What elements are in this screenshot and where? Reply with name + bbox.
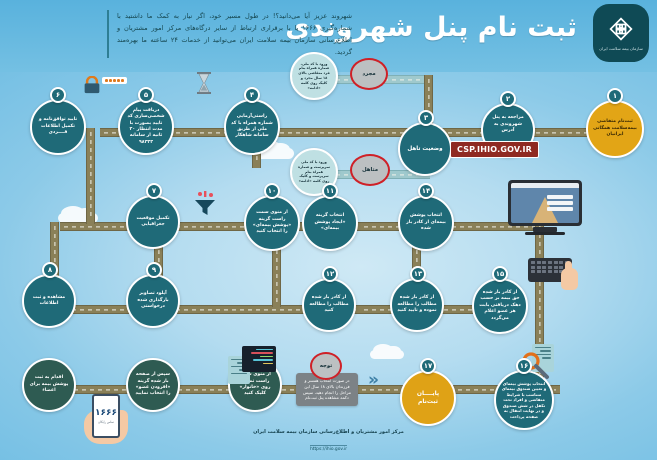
node-badge-3: ۳ bbox=[418, 110, 434, 126]
decision-single[interactable]: مجرد bbox=[350, 58, 388, 90]
node-5[interactable]: دریافت پیام‌ شخصی‌سازی کد تایید بصورت با… bbox=[118, 99, 174, 155]
note-badge: توجه bbox=[310, 352, 342, 380]
phone-screen: ۱۶۶۶ تماس رایگان bbox=[92, 394, 120, 438]
organization-logo: سازمان بیمه سلامت ایران bbox=[593, 4, 649, 62]
pointing-hand-graphic bbox=[561, 268, 578, 290]
monitor-body bbox=[508, 180, 582, 226]
padlock-password-icon bbox=[82, 76, 102, 98]
node-badge-14: ۱۴ bbox=[418, 183, 434, 199]
node-badge-2: ۲ bbox=[500, 91, 516, 107]
node-7[interactable]: تکمیل موقعیت جغرافیایی bbox=[126, 195, 180, 249]
keyboard-hand-icon bbox=[528, 258, 572, 282]
url-badge[interactable]: CSP.IHIO.GOV.IR bbox=[450, 141, 539, 158]
bottom-node-add-member[interactable]: سپس از صفحه باز شده گزینه «افزودن عضو» ر… bbox=[126, 358, 180, 412]
monitor-base bbox=[525, 232, 565, 235]
node-badge-4: ۴ bbox=[244, 87, 260, 103]
decision-married-label: متاهل bbox=[362, 167, 378, 173]
road-vert-6 bbox=[86, 128, 95, 224]
node-9[interactable]: آپلود تصاویر بارگذاری شده درخواستی bbox=[126, 274, 180, 328]
hourglass-icon bbox=[196, 72, 212, 98]
bottom-node-register-coverage[interactable]: اقدام به ثبت پوشش بیمه برای اعضاء bbox=[22, 358, 76, 412]
node-badge-6: ۶ bbox=[50, 87, 66, 103]
code-terminal-graphic bbox=[242, 346, 276, 372]
decision-married[interactable]: متاهل bbox=[350, 154, 390, 186]
node-6[interactable]: تایید توافق‌نامه و تکمیل اطلاعات فــــرد… bbox=[30, 99, 86, 155]
password-dots bbox=[102, 77, 127, 84]
node-8[interactable]: مشاهده و ثبت اطلاعات bbox=[22, 274, 76, 328]
logo-caption: سازمان بیمه سلامت ایران bbox=[599, 46, 643, 51]
node-badge-7: ۷ bbox=[146, 183, 162, 199]
call-center-number: ۱۶۶۶ bbox=[95, 408, 117, 418]
node-12[interactable]: از کادر باز شده مطالب را مطالعه کنید bbox=[302, 278, 356, 332]
node-15[interactable]: از کادر باز شده حق بیمه بر حسب دهک دریاف… bbox=[472, 278, 528, 334]
node-10[interactable]: از منوی سمت راست گزینه «پوشش بیمه‌ای» را… bbox=[244, 195, 300, 251]
node-1[interactable]: ثبت‌نام متقاضی بیمه‌سلامت همگانی ایرانیا… bbox=[586, 100, 644, 158]
node-badge-13: ۱۳ bbox=[410, 266, 426, 282]
header-subtitle: شهروند عزیز آیا می‌دانید؟! در طول مسیر خ… bbox=[107, 10, 352, 58]
flower-emblem-icon bbox=[608, 16, 634, 42]
call-center-label: تماس رایگان bbox=[98, 420, 114, 424]
phone-in-hand-icon: ۱۶۶۶ تماس رایگان bbox=[92, 394, 120, 438]
footer-url[interactable]: https://ihio.gov.ir bbox=[310, 445, 347, 453]
node-badge-1: ۱ bbox=[607, 88, 623, 104]
node-badge-12: ۱۲ bbox=[322, 266, 338, 282]
double-chevron-left-icon: « bbox=[368, 372, 379, 389]
cloud-decoration bbox=[370, 350, 404, 359]
branch-bubble-single: ورود با کد ملی، شماره همراه بنام فرد متق… bbox=[290, 52, 338, 100]
node-badge-10: ۱۰ bbox=[264, 183, 280, 199]
login-form-graphic bbox=[547, 195, 573, 211]
decision-single-label: مجرد bbox=[362, 71, 375, 77]
infographic-canvas: ثبت نام پنل شهروندی شهروند عزیز آیا می‌د… bbox=[0, 0, 657, 460]
road-row1 bbox=[100, 128, 640, 137]
desktop-monitor-icon bbox=[508, 180, 582, 235]
node-badge-9: ۹ bbox=[146, 262, 162, 278]
node-17-finish[interactable]: پایــــان ثبت‌نام bbox=[400, 370, 456, 426]
node-badge-15: ۱۵ bbox=[492, 266, 508, 282]
node-badge-11: ۱۱ bbox=[322, 183, 338, 199]
node-3[interactable]: وضعیت تاهل bbox=[398, 122, 452, 176]
node-badge-5: ۵ bbox=[138, 87, 154, 103]
node-11[interactable]: انتخاب گزینه «ایجاد پوشش بیمه‌ای» bbox=[302, 195, 358, 251]
funnel-filter-icon bbox=[193, 190, 217, 220]
node-14[interactable]: انتخاب پوشش بیمه‌ای از کادر باز شده bbox=[398, 195, 454, 251]
node-badge-8: ۸ bbox=[42, 262, 58, 278]
node-badge-16: ۱۶ bbox=[516, 358, 532, 374]
monitor-screen bbox=[511, 183, 579, 223]
node-badge-17: ۱۷ bbox=[420, 358, 436, 374]
node-13[interactable]: از کادر باز شده مطالب را مطالعه نموده و … bbox=[390, 278, 444, 332]
node-4[interactable]: راستی‌آزمایی شماره همراه با کد ملی از طر… bbox=[224, 99, 280, 155]
note-badge-label: توجه bbox=[320, 363, 333, 369]
